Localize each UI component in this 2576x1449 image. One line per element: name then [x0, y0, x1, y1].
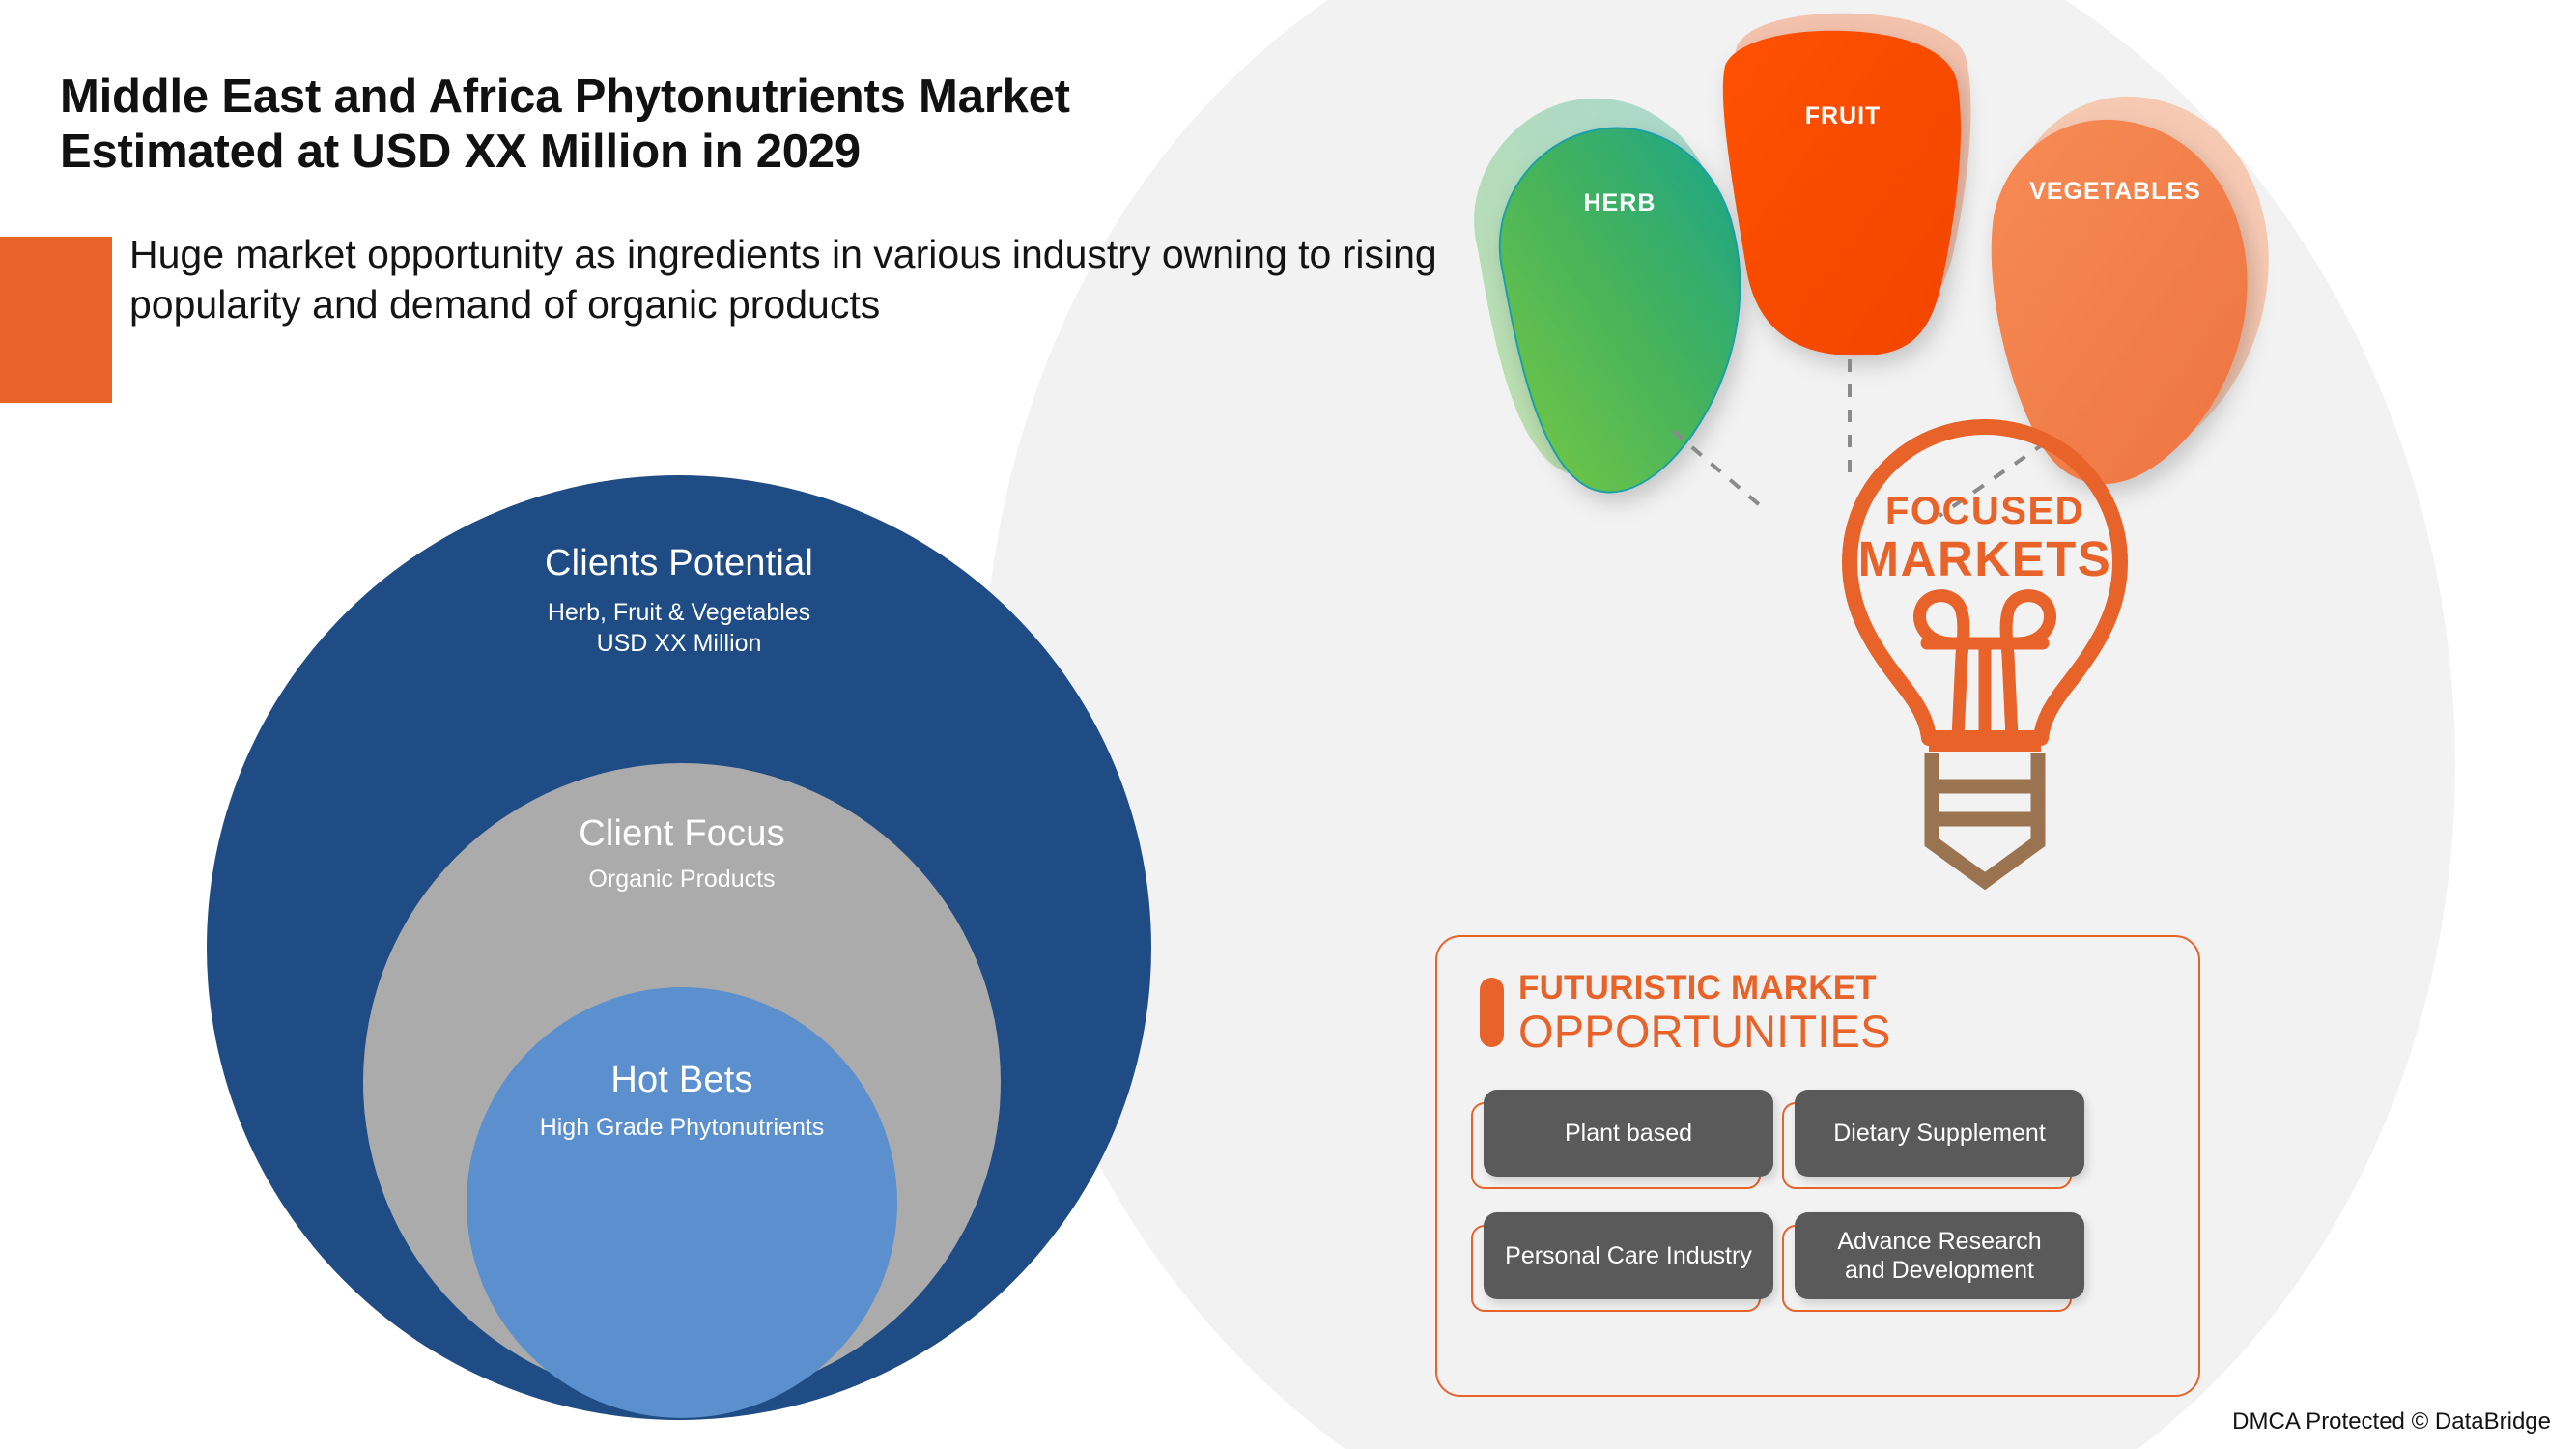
heading-accent-pill: [1480, 978, 1504, 1047]
orange-accent-square: [0, 237, 112, 403]
opportunity-card[interactable]: Personal Care Industry: [1484, 1212, 1773, 1299]
clients-potential-sub-1: Herb, Fruit & Vegetables: [207, 597, 1151, 628]
clients-potential-label: Clients Potential Herb, Fruit & Vegetabl…: [207, 543, 1151, 659]
opportunity-card[interactable]: Plant based: [1484, 1090, 1773, 1177]
subtitle-text: Huge market opportunity as ingredients i…: [129, 229, 1482, 329]
opportunity-card[interactable]: Advance Research and Development: [1795, 1212, 2084, 1299]
opportunity-cards-grid: Plant based Dietary Supplement Personal …: [1470, 1090, 2185, 1379]
hot-bets-title: Hot Bets: [467, 1060, 897, 1102]
opportunity-card-label[interactable]: Dietary Supplement: [1795, 1090, 2084, 1177]
client-focus-label: Client Focus Organic Products: [363, 813, 1001, 895]
page-title: Middle East and Africa Phytonutrients Ma…: [60, 70, 1441, 180]
footer-copyright: DMCA Protected © DataBridge: [2232, 1408, 2551, 1435]
panel-heading-line-2: OPPORTUNITIES: [1518, 1009, 2156, 1055]
fruit-petal: [1723, 31, 1961, 355]
panel-heading-line-1: FUTURISTIC MARKET: [1518, 971, 2156, 1005]
panel-heading: FUTURISTIC MARKET OPPORTUNITIES: [1480, 971, 2156, 1055]
focused-markets-lightbulb: FOCUSED MARKETS: [1782, 406, 2188, 908]
headline-line-1: Middle East and Africa Phytonutrients Ma…: [60, 70, 1441, 125]
headline-line-2: Estimated at USD XX Million in 2029: [60, 125, 1441, 180]
client-focus-title: Client Focus: [363, 813, 1001, 856]
opportunity-card-label[interactable]: Personal Care Industry: [1484, 1212, 1773, 1299]
bulb-collar: [1929, 732, 2041, 752]
lightbulb-svg: FOCUSED MARKETS: [1782, 406, 2188, 908]
clients-potential-sub-2: USD XX Million: [207, 628, 1151, 659]
herb-petal-label: HERB: [1584, 189, 1656, 216]
hot-bets-sub-1: High Grade Phytonutrients: [467, 1112, 897, 1143]
clients-potential-title: Clients Potential: [207, 543, 1151, 585]
bulb-screw-base: [1932, 753, 2038, 881]
vegetables-petal-label: VEGETABLES: [2029, 178, 2201, 205]
opportunity-card[interactable]: Dietary Supplement: [1795, 1090, 2084, 1177]
hot-bets-circle: Hot Bets High Grade Phytonutrients: [467, 987, 897, 1418]
bulb-title-line-2: MARKETS: [1858, 531, 2112, 586]
fruit-petal-label: FRUIT: [1805, 102, 1882, 129]
bulb-filament: [1919, 596, 2050, 738]
opportunity-card-label[interactable]: Plant based: [1484, 1090, 1773, 1177]
bulb-title-line-1: FOCUSED: [1885, 490, 2084, 532]
opportunity-card-label[interactable]: Advance Research and Development: [1795, 1212, 2084, 1299]
infographic-canvas: Middle East and Africa Phytonutrients Ma…: [0, 0, 2576, 1449]
hot-bets-label: Hot Bets High Grade Phytonutrients: [467, 1060, 897, 1143]
client-focus-sub-1: Organic Products: [363, 864, 1001, 895]
